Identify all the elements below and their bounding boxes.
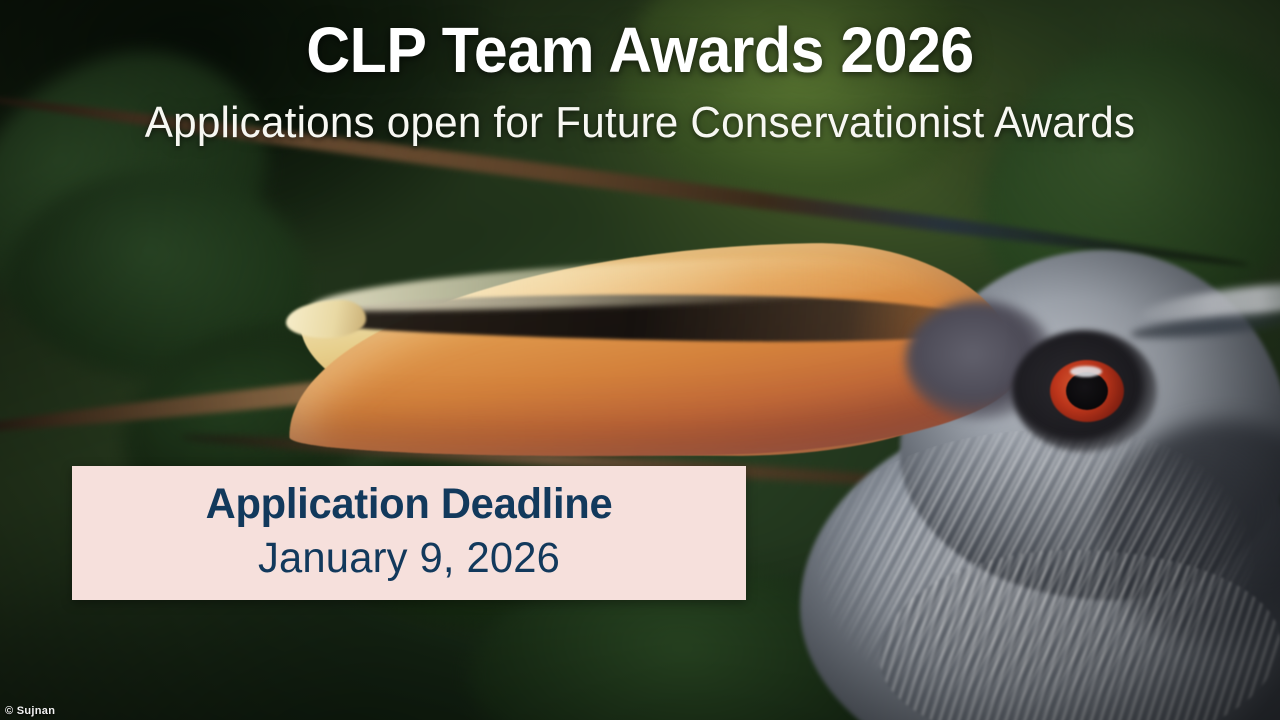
page-subtitle: Applications open for Future Conservatio… xyxy=(26,94,1255,152)
deadline-label: Application Deadline xyxy=(82,480,736,528)
bird-eye-glint xyxy=(1070,366,1102,377)
bird-eye-pupil xyxy=(1066,372,1108,410)
page-title: CLP Team Awards 2026 xyxy=(32,18,1248,82)
photo-credit: © Sujnan xyxy=(5,705,55,717)
deadline-date: January 9, 2026 xyxy=(82,534,736,582)
bird-beak-tip xyxy=(286,300,366,338)
headline-block: CLP Team Awards 2026 Applications open f… xyxy=(0,18,1280,152)
poster-banner: CLP Team Awards 2026 Applications open f… xyxy=(0,0,1280,720)
deadline-callout: Application Deadline January 9, 2026 xyxy=(72,466,746,600)
